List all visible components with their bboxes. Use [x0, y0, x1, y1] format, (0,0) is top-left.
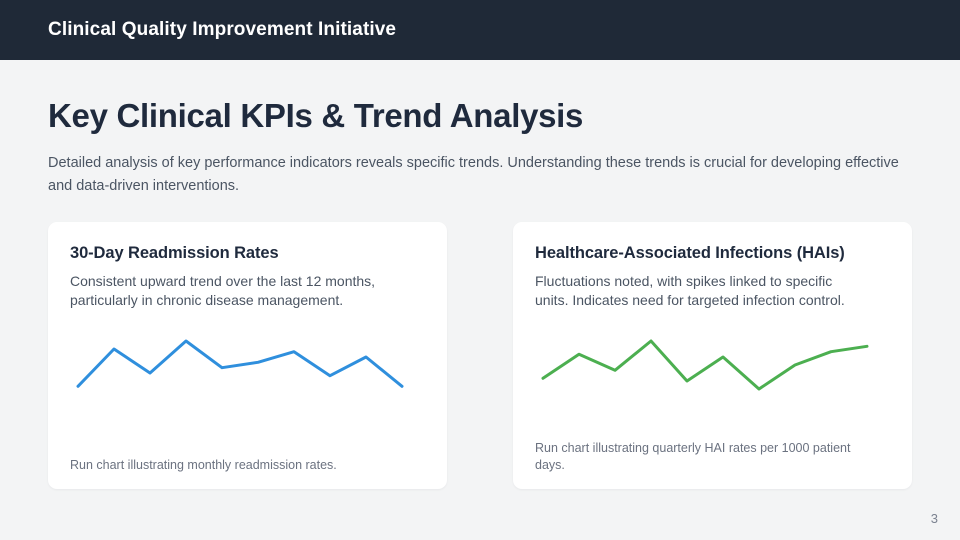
card-description: Consistent upward trend over the last 12… [70, 272, 400, 311]
page-number: 3 [931, 511, 938, 526]
slide: Clinical Quality Improvement Initiative … [0, 0, 960, 540]
slide-content: Key Clinical KPIs & Trend Analysis Detai… [48, 60, 912, 199]
card-description: Fluctuations noted, with spikes linked t… [535, 272, 865, 311]
card-caption: Run chart illustrating monthly readmissi… [70, 457, 410, 489]
hai-trend-line [543, 341, 867, 389]
kpi-card-row: 30-Day Readmission Rates Consistent upwa… [48, 222, 912, 489]
readmission-trend-line [78, 341, 402, 386]
card-title: Healthcare-Associated Infections (HAIs) [535, 244, 890, 263]
kpi-card-readmission: 30-Day Readmission Rates Consistent upwa… [48, 222, 447, 489]
card-title: 30-Day Readmission Rates [70, 244, 425, 263]
run-chart-hai [535, 319, 890, 415]
card-spacer [535, 415, 890, 440]
card-caption: Run chart illustrating quarterly HAI rat… [535, 440, 875, 490]
run-chart-readmission [70, 319, 425, 415]
page-subtitle: Detailed analysis of key performance ind… [48, 152, 908, 198]
kpi-card-hai: Healthcare-Associated Infections (HAIs) … [513, 222, 912, 489]
card-spacer [70, 415, 425, 457]
page-title: Key Clinical KPIs & Trend Analysis [48, 98, 912, 134]
line-chart-svg [535, 319, 875, 415]
line-chart-svg [70, 319, 410, 415]
header-title: Clinical Quality Improvement Initiative [48, 19, 396, 41]
header-bar: Clinical Quality Improvement Initiative [0, 0, 960, 60]
